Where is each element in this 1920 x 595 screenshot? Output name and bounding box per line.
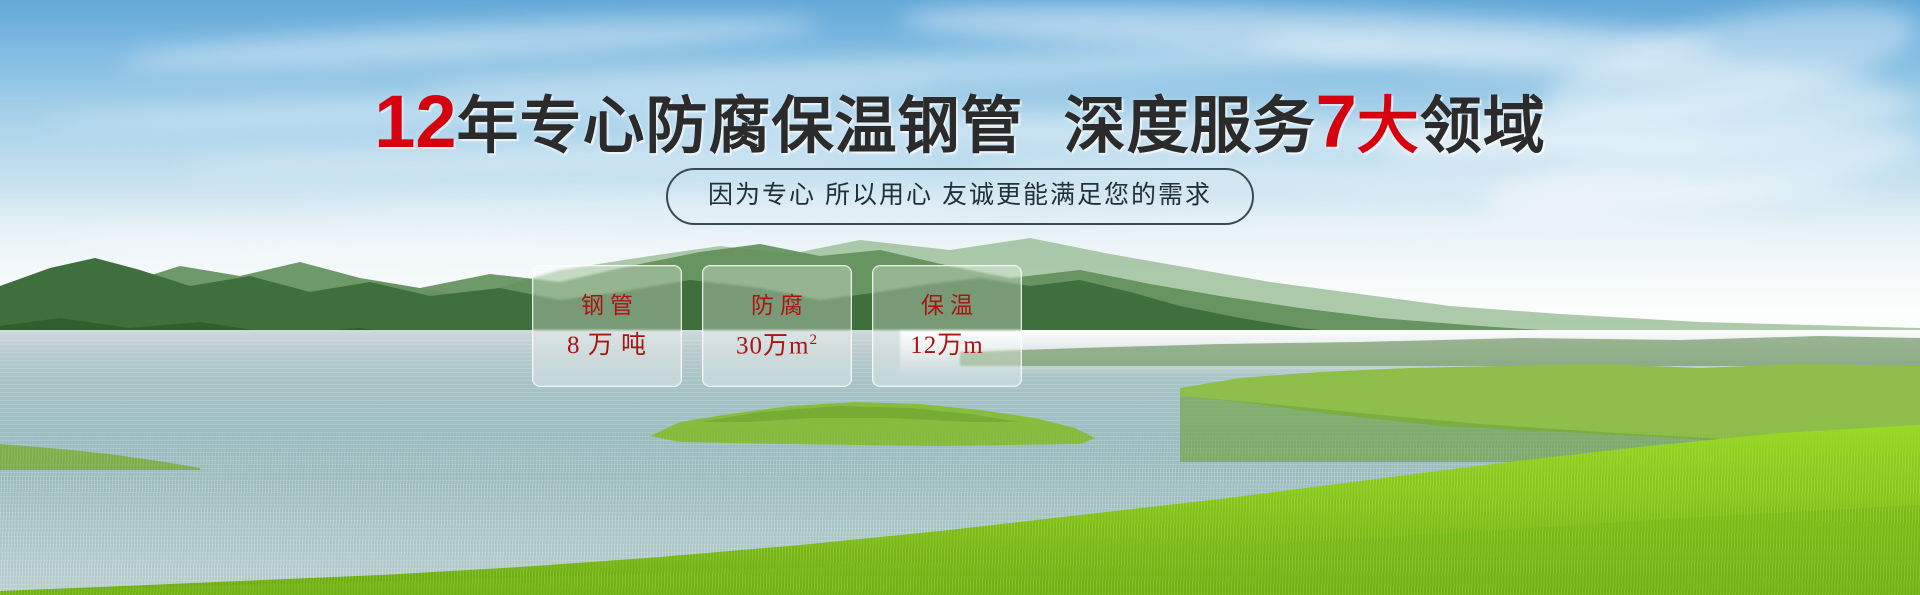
headline-part-two: 深度服务 xyxy=(1064,92,1316,161)
subtitle-container: 因为专心 所以用心 友诚更能满足您的需求 xyxy=(0,168,1920,225)
hero-banner: 12年专心防腐保温钢管深度服务7大领域 因为专心 所以用心 友诚更能满足您的需求… xyxy=(0,0,1920,595)
stat-card-value: 8 万 吨 xyxy=(567,333,647,358)
stat-card-value-superscript: 2 xyxy=(809,332,818,348)
stat-card-anticorrosion: 防腐 30万m2 xyxy=(702,265,852,387)
stat-card-group: 钢管 8 万 吨 防腐 30万m2 保温 12万m xyxy=(532,265,1022,387)
stat-card-label: 保温 xyxy=(915,294,979,317)
headline-years-number: 12 xyxy=(374,80,456,163)
stat-card-value: 12万m xyxy=(910,333,983,358)
stat-card-value: 30万m2 xyxy=(736,333,818,358)
headline-part-three: 领域 xyxy=(1420,92,1546,161)
stat-card-insulation: 保温 12万m xyxy=(872,265,1022,387)
headline-fields-number: 7 xyxy=(1316,80,1357,163)
headline-fields-unit: 大 xyxy=(1357,92,1420,161)
headline-part-one: 年专心防腐保温钢管 xyxy=(457,92,1024,161)
subtitle-pill: 因为专心 所以用心 友诚更能满足您的需求 xyxy=(666,168,1254,225)
stat-card-label: 钢管 xyxy=(575,294,639,317)
stat-card-label: 防腐 xyxy=(745,294,809,317)
stat-card-value-main: 30万m xyxy=(736,332,809,359)
page-title: 12年专心防腐保温钢管深度服务7大领域 xyxy=(0,85,1920,159)
grass-texture xyxy=(0,425,1920,595)
stat-card-steel-pipe: 钢管 8 万 吨 xyxy=(532,265,682,387)
